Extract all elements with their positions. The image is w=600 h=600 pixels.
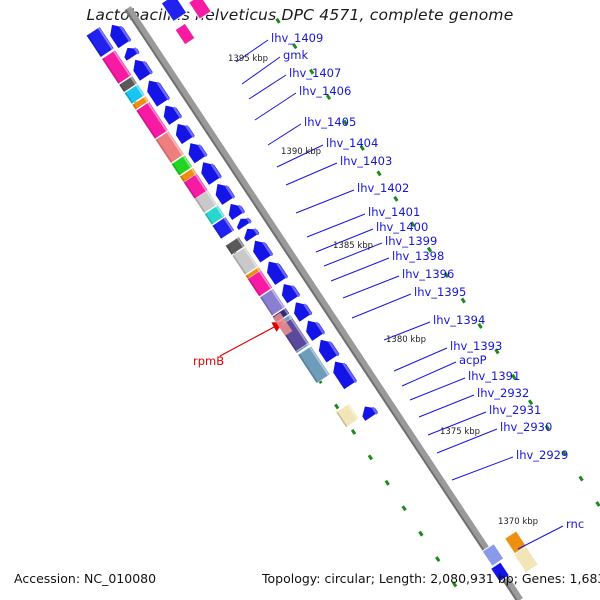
axis-tick-label: 1390 kbp — [281, 148, 321, 157]
gene-label[interactable]: lhv_1399 — [385, 236, 437, 248]
gene-label[interactable]: lhv_1396 — [402, 269, 454, 281]
gene-label[interactable]: lhv_1401 — [368, 207, 420, 219]
gene-label[interactable]: lhv_1393 — [450, 341, 502, 353]
gene-label[interactable]: lhv_1405 — [304, 117, 356, 129]
gene-label[interactable]: gmk — [283, 50, 308, 62]
axis-tick-label: 1380 kbp — [386, 336, 426, 345]
gene-block-fragment — [161, 0, 186, 22]
gene-label[interactable]: lhv_1394 — [433, 315, 485, 327]
gene-label[interactable]: lhv_1400 — [376, 222, 428, 234]
axis-tick-label: 1385 kbp — [333, 242, 373, 251]
accession-text: Accession: NC_010080 — [14, 571, 156, 586]
axis-tick-label: 1395 kbp — [228, 55, 268, 64]
gene-label[interactable]: lhv_1395 — [414, 287, 466, 299]
gene-label[interactable]: rnc — [566, 519, 584, 531]
gene-label[interactable]: lhv_1391 — [468, 371, 520, 383]
gene-label[interactable]: lhv_1402 — [357, 183, 409, 195]
gene-label[interactable]: lhv_2932 — [477, 388, 529, 400]
gene-label[interactable]: lhv_2930 — [500, 422, 552, 434]
gene-block-fragment — [189, 0, 212, 19]
genome-map-viewer: Lactobacillus helveticus DPC 4571, compl… — [0, 0, 600, 600]
gene-block-fragment — [175, 23, 195, 45]
axis-tick-label: 1370 kbp — [498, 518, 538, 527]
rpmb-pointer — [220, 313, 292, 356]
gene-label[interactable]: lhv_2929 — [516, 450, 568, 462]
gene-label[interactable]: lhv_2931 — [489, 405, 541, 417]
gene-label[interactable]: lhv_1406 — [299, 86, 351, 98]
gene-label[interactable]: lhv_1404 — [326, 138, 378, 150]
genome-summary-text: Topology: circular; Length: 2,080,931 bp… — [262, 571, 600, 586]
gene-label[interactable]: lhv_1403 — [340, 156, 392, 168]
gene-label[interactable]: lhv_1407 — [289, 68, 341, 80]
gene-label[interactable]: lhv_1409 — [271, 33, 323, 45]
axis-tick-label: 1375 kbp — [440, 428, 480, 437]
gene-label[interactable]: lhv_1398 — [392, 251, 444, 263]
highlighted-gene-label[interactable]: rpmB — [193, 356, 224, 368]
gene-label[interactable]: acpP — [459, 355, 487, 367]
